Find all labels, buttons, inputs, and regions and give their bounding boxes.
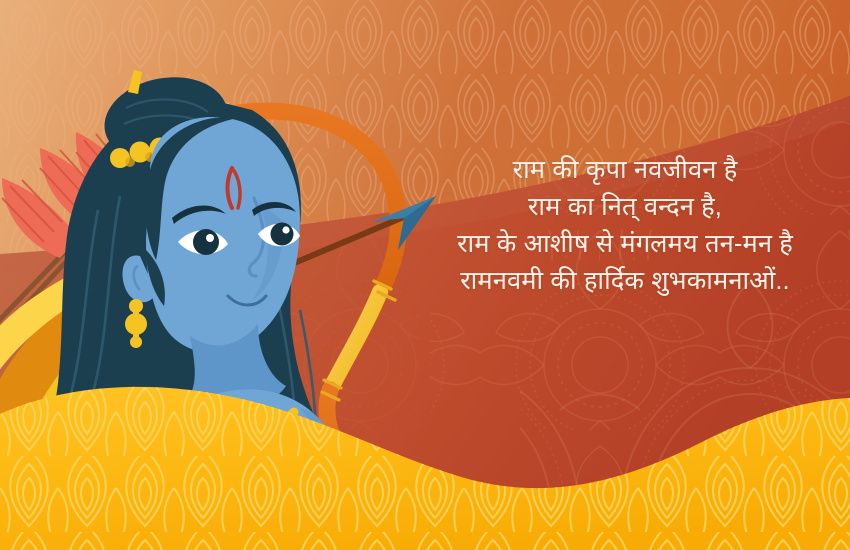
ram-navami-greeting-card: राम की कृपा नवजीवन है राम का नित् वन्दन … bbox=[0, 0, 850, 550]
bottom-wave bbox=[0, 0, 850, 550]
